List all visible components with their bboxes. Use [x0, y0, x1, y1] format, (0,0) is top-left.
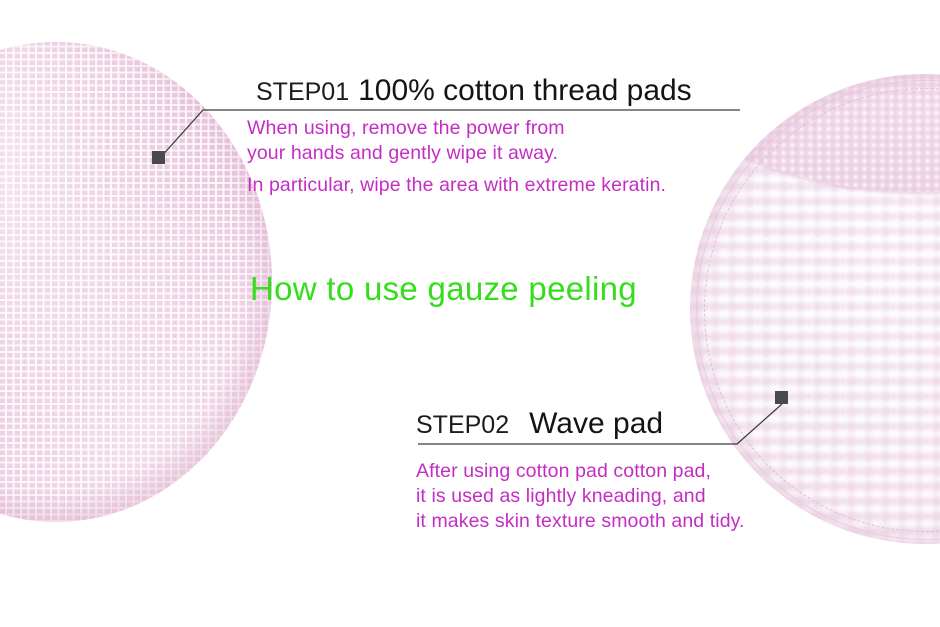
infographic-canvas: STEP01 100% cotton thread pads When usin…	[0, 0, 940, 627]
page-headline: How to use gauze peeling	[250, 270, 637, 308]
step02-description-line-3: it makes skin texture smooth and tidy.	[416, 509, 745, 534]
step02-heading: STEP02 Wave pad	[416, 407, 663, 441]
step02-description-line-2: it is used as lightly kneading, and	[416, 484, 745, 509]
step01-heading: STEP01 100% cotton thread pads	[256, 74, 692, 108]
step02-label: STEP02	[416, 411, 509, 440]
step01-description-line-1: When using, remove the power from	[247, 116, 666, 141]
step01-description-line-2: your hands and gently wipe it away.	[247, 141, 666, 166]
step02-title: Wave pad	[529, 407, 663, 441]
gauze-thread-pad-image	[0, 42, 272, 522]
step02-description: After using cotton pad cotton pad, it is…	[416, 459, 745, 534]
step01-description-line-3: In particular, wipe the area with extrem…	[247, 173, 666, 198]
step01-title: 100% cotton thread pads	[358, 74, 692, 108]
step02-description-line-1: After using cotton pad cotton pad,	[416, 459, 745, 484]
step01-description: When using, remove the power from your h…	[247, 116, 666, 198]
step01-label: STEP01	[256, 78, 349, 107]
